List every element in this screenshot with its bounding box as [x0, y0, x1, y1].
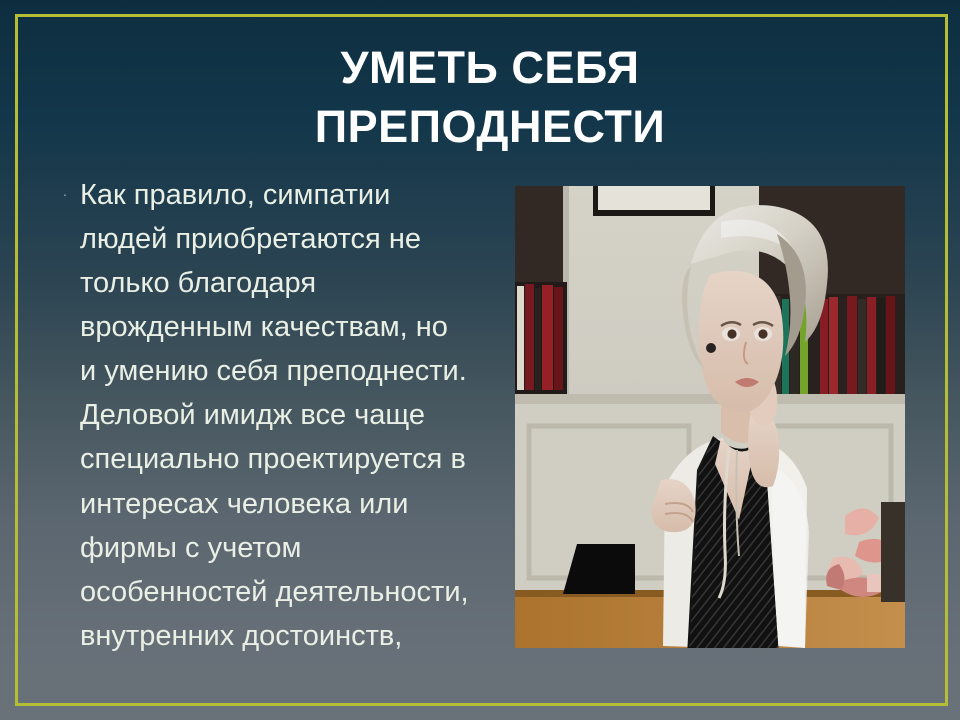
slide-title: УМЕТЬ СЕБЯ ПРЕПОДНЕСТИ	[230, 38, 750, 157]
slide-body-text: Как правило, симпатии людей приобретаютс…	[80, 173, 470, 658]
slide-photo	[515, 186, 905, 648]
slide-body-bullet-item: · Как правило, симпатии людей приобретаю…	[50, 173, 470, 658]
bullet-point-icon: ·	[50, 173, 80, 202]
presentation-slide: УМЕТЬ СЕБЯ ПРЕПОДНЕСТИ · Как правило, си…	[0, 0, 960, 720]
businesswoman-photo-illustration	[515, 186, 905, 648]
